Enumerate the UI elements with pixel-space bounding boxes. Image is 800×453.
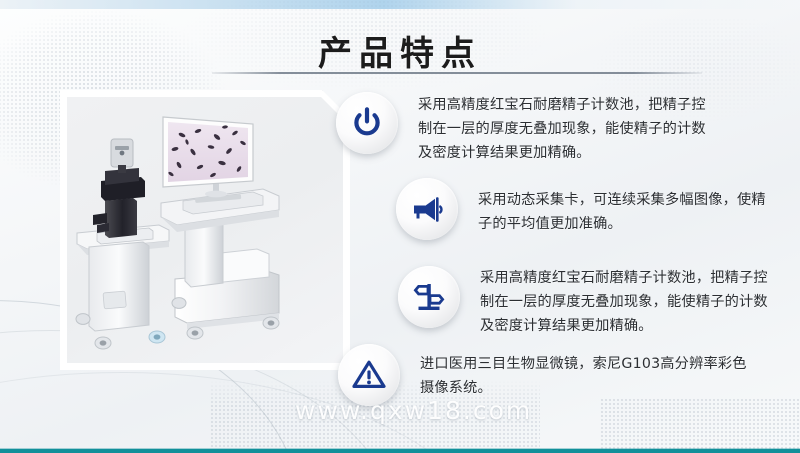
feature-item-1: 采用高精度红宝石耐磨精子计数池，把精子控制在一层的厚度无叠加现象，能使精子的计数… [336, 92, 718, 165]
power-icon-glyph [350, 106, 384, 140]
signpost-icon-glyph [412, 280, 446, 314]
page-title-wrap: 产品特点 [0, 26, 800, 75]
power-icon[interactable] [336, 92, 398, 154]
feature-text-4: 进口医用三目生物显微镜，索尼G103高分辨率彩色摄像系统。 [420, 352, 760, 400]
warning-triangle-icon-glyph [352, 358, 386, 392]
product-photo-frame [60, 90, 350, 370]
background-dot-texture [600, 398, 800, 453]
feature-item-4: 进口医用三目生物显微镜，索尼G103高分辨率彩色摄像系统。 [338, 344, 760, 406]
feature-text-2: 采用动态采集卡，可连续采集多幅图像，使精子的平均值更加准确。 [478, 188, 778, 236]
feature-text-3: 采用高精度红宝石耐磨精子计数池，把精子控制在一层的厚度无叠加现象，能使精子的计数… [480, 266, 780, 338]
feature-item-2: 采用动态采集卡，可连续采集多幅图像，使精子的平均值更加准确。 [396, 178, 778, 240]
megaphone-icon[interactable] [396, 178, 458, 240]
feature-item-3: 采用高精度红宝石耐磨精子计数池，把精子控制在一层的厚度无叠加现象，能使精子的计数… [398, 266, 780, 338]
product-photo [67, 97, 343, 363]
feature-text-1: 采用高精度红宝石耐磨精子计数池，把精子控制在一层的厚度无叠加现象，能使精子的计数… [418, 93, 718, 165]
title-underline-rule [212, 72, 702, 74]
page-title: 产品特点 [318, 26, 482, 75]
warning-triangle-icon[interactable] [338, 344, 400, 406]
product-illustration-svg [67, 97, 343, 363]
slide-canvas: 产品特点 [0, 0, 800, 453]
bottom-accent-rule [0, 449, 800, 453]
signpost-icon[interactable] [398, 266, 460, 328]
top-accent-band [0, 0, 800, 9]
megaphone-icon-glyph [410, 192, 444, 226]
